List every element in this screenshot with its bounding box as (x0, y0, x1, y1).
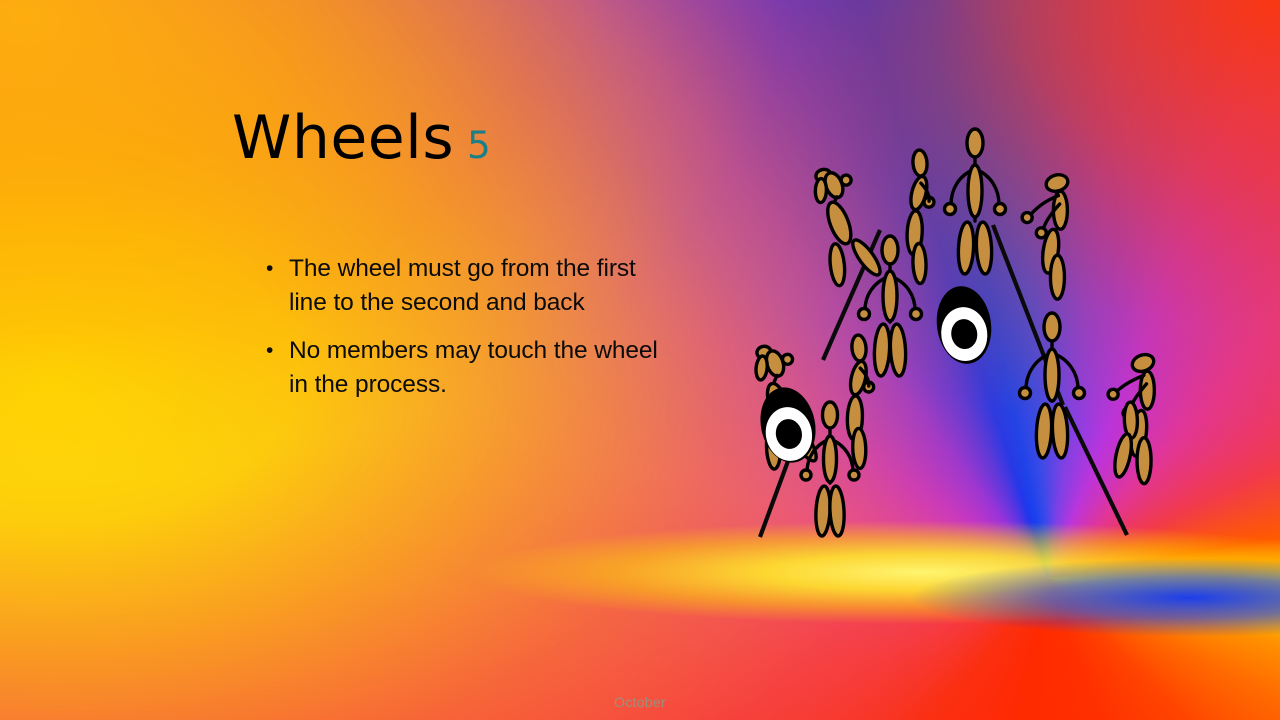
list-item: The wheel must go from the first line to… (262, 252, 662, 320)
slide-canvas: Wheels 5 The wheel must go from the firs… (0, 0, 1280, 720)
stick-figure (805, 161, 886, 289)
stick-figure (898, 148, 940, 285)
stick-figure (1007, 165, 1091, 302)
stick-figure (945, 129, 1006, 274)
title-number: 5 (467, 127, 491, 164)
page-title: Wheels 5 (232, 108, 491, 168)
illustration-stick-figures (735, 135, 1185, 565)
bullet-list: The wheel must go from the first line to… (262, 252, 662, 416)
footer-label: October (0, 694, 1280, 710)
list-item: No members may touch the wheel in the pr… (262, 334, 662, 402)
wheel-shape (932, 283, 996, 368)
title-text: Wheels (232, 108, 454, 168)
boundary-lines (760, 225, 1127, 537)
stick-figure (1020, 313, 1085, 458)
